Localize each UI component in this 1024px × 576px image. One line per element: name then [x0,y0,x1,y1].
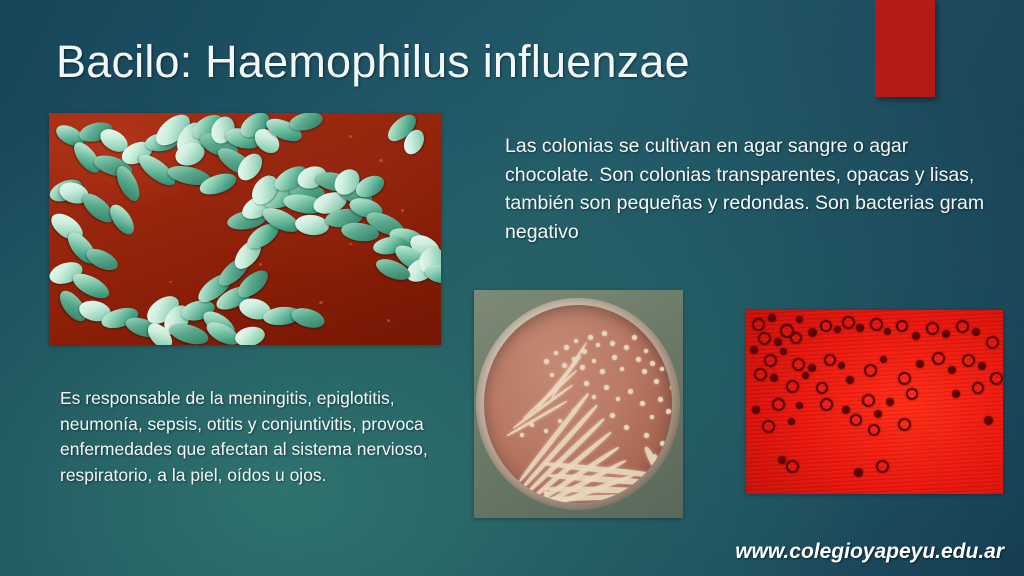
sem-micrograph-image [49,113,441,345]
paragraph-diseases: Es responsable de la meningitis, epiglot… [60,386,430,488]
page-title: Bacilo: Haemophilus influenzae [56,36,690,88]
petri-dish-rim [476,298,680,510]
paragraph-colonies: Las colonias se cultivan en agar sangre … [505,132,985,246]
petri-dish-agar [484,305,672,503]
agar-plate-image [474,290,683,518]
red-accent-bar [875,0,935,97]
footer-url: www.colegioyapeyu.edu.ar [735,540,1004,564]
slide-canvas: Bacilo: Haemophilus influenzae Las colon… [0,0,1024,576]
blood-agar-image [746,310,1003,494]
